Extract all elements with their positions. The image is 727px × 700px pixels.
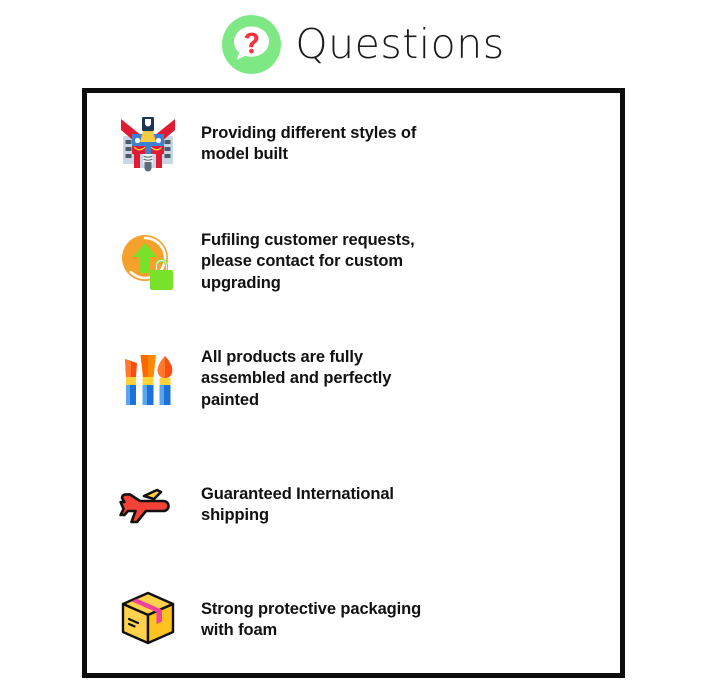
list-item-label: Strong protective packaging with foam <box>201 599 451 641</box>
list-item: Fufiling customer requests, please conta… <box>113 227 603 297</box>
list-item-label: Guaranteed International shipping <box>201 484 451 526</box>
questions-panel: Providing different styles of model buil… <box>82 88 625 678</box>
question-mark-speech-bubble-icon <box>222 15 281 74</box>
paint-brushes-icon <box>113 344 183 414</box>
list-item-label: Fufiling customer requests, please conta… <box>201 230 451 293</box>
list-item: Guaranteed International shipping <box>113 470 603 540</box>
package-box-icon <box>113 585 183 655</box>
list-item: All products are fully assembled and per… <box>113 344 603 414</box>
page-title: Questions <box>295 24 504 65</box>
list-item: Providing different styles of model buil… <box>113 109 603 179</box>
upgrade-shopping-bag-icon <box>113 227 183 297</box>
airplane-icon <box>113 470 183 540</box>
gundam-robot-head-icon <box>113 109 183 179</box>
page-header: Questions <box>0 8 727 80</box>
list-item-label: Providing different styles of model buil… <box>201 123 451 165</box>
list-item: Strong protective packaging with foam <box>113 585 603 655</box>
list-item-label: All products are fully assembled and per… <box>201 347 451 410</box>
